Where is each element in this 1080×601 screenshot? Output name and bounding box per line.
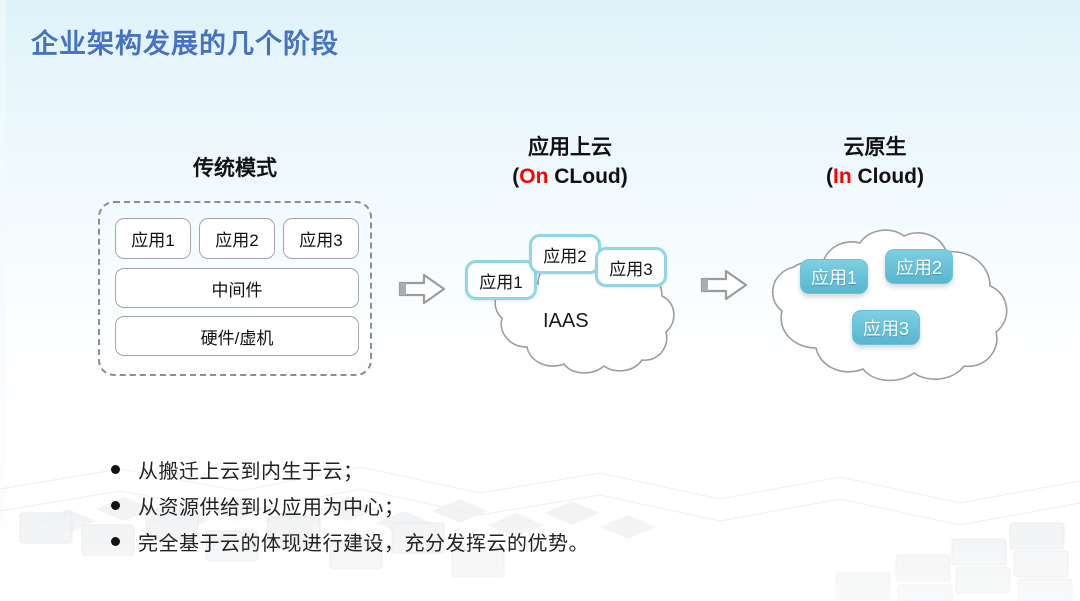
stage-heading-oncloud-line1: 应用上云 xyxy=(528,136,612,159)
page-title: 企业架构发展的几个阶段 xyxy=(31,22,339,61)
bullet-dot-icon xyxy=(111,537,120,546)
arrow-oncloud-to-cloudnative xyxy=(700,268,748,302)
list-item: 从资源供给到以应用为中心； xyxy=(111,488,811,523)
bullet-text-2: 从资源供给到以应用为中心； xyxy=(138,491,405,520)
stage-heading-cloudnative-rest: Cloud) xyxy=(852,165,924,188)
cloud-label-iaas: IAAS xyxy=(543,310,589,333)
cloud-shape-native xyxy=(756,226,1018,384)
traditional-app-3[interactable]: 应用3 xyxy=(283,218,359,259)
oncloud-app-2[interactable]: 应用2 xyxy=(529,234,601,274)
bullet-text-3: 完全基于云的体现进行建设，充分发挥云的优势。 xyxy=(138,527,589,556)
stage-heading-oncloud-keyword: On xyxy=(519,165,548,188)
stage-heading-oncloud: 应用上云 (On CLoud) xyxy=(445,134,695,192)
cloudnative-app-2[interactable]: 应用2 xyxy=(885,249,953,284)
stage-heading-cloudnative: 云原生 (In Cloud) xyxy=(750,134,1000,192)
stage-heading-cloudnative-keyword: In xyxy=(833,165,852,188)
traditional-layer-middleware[interactable]: 中间件 xyxy=(115,268,359,308)
stage-heading-traditional: 传统模式 xyxy=(95,155,375,184)
bullet-dot-icon xyxy=(111,465,120,474)
traditional-app-2[interactable]: 应用2 xyxy=(199,218,275,259)
oncloud-app-1[interactable]: 应用1 xyxy=(465,260,537,300)
cloudnative-app-3[interactable]: 应用3 xyxy=(852,310,920,345)
stage-heading-cloudnative-paren-open: ( xyxy=(826,165,833,188)
left-edge-strip xyxy=(0,0,6,601)
traditional-stack-container: 应用1 应用2 应用3 中间件 硬件/虚机 xyxy=(98,201,372,376)
list-item: 完全基于云的体现进行建设，充分发挥云的优势。 xyxy=(111,524,811,559)
oncloud-app-3[interactable]: 应用3 xyxy=(595,247,667,287)
bullet-text-1: 从搬迁上云到内生于云； xyxy=(138,455,364,484)
list-item: 从搬迁上云到内生于云； xyxy=(111,452,811,487)
stage-heading-cloudnative-line1: 云原生 xyxy=(844,136,907,159)
summary-bullet-list: 从搬迁上云到内生于云； 从资源供给到以应用为中心； 完全基于云的体现进行建设，充… xyxy=(111,452,811,560)
bullet-dot-icon xyxy=(111,501,120,510)
slide-canvas: 企业架构发展的几个阶段 传统模式 应用1 应用2 应用3 中间件 硬件/虚机 应… xyxy=(0,0,1080,601)
traditional-app-1[interactable]: 应用1 xyxy=(115,218,191,259)
cloudnative-app-1[interactable]: 应用1 xyxy=(800,259,868,294)
traditional-app-row: 应用1 应用2 应用3 xyxy=(115,218,359,259)
arrow-traditional-to-oncloud xyxy=(398,272,446,306)
stage-heading-oncloud-rest: CLoud) xyxy=(548,165,627,188)
traditional-layer-hardware[interactable]: 硬件/虚机 xyxy=(115,316,359,356)
stage-heading-traditional-line1: 传统模式 xyxy=(193,157,277,180)
